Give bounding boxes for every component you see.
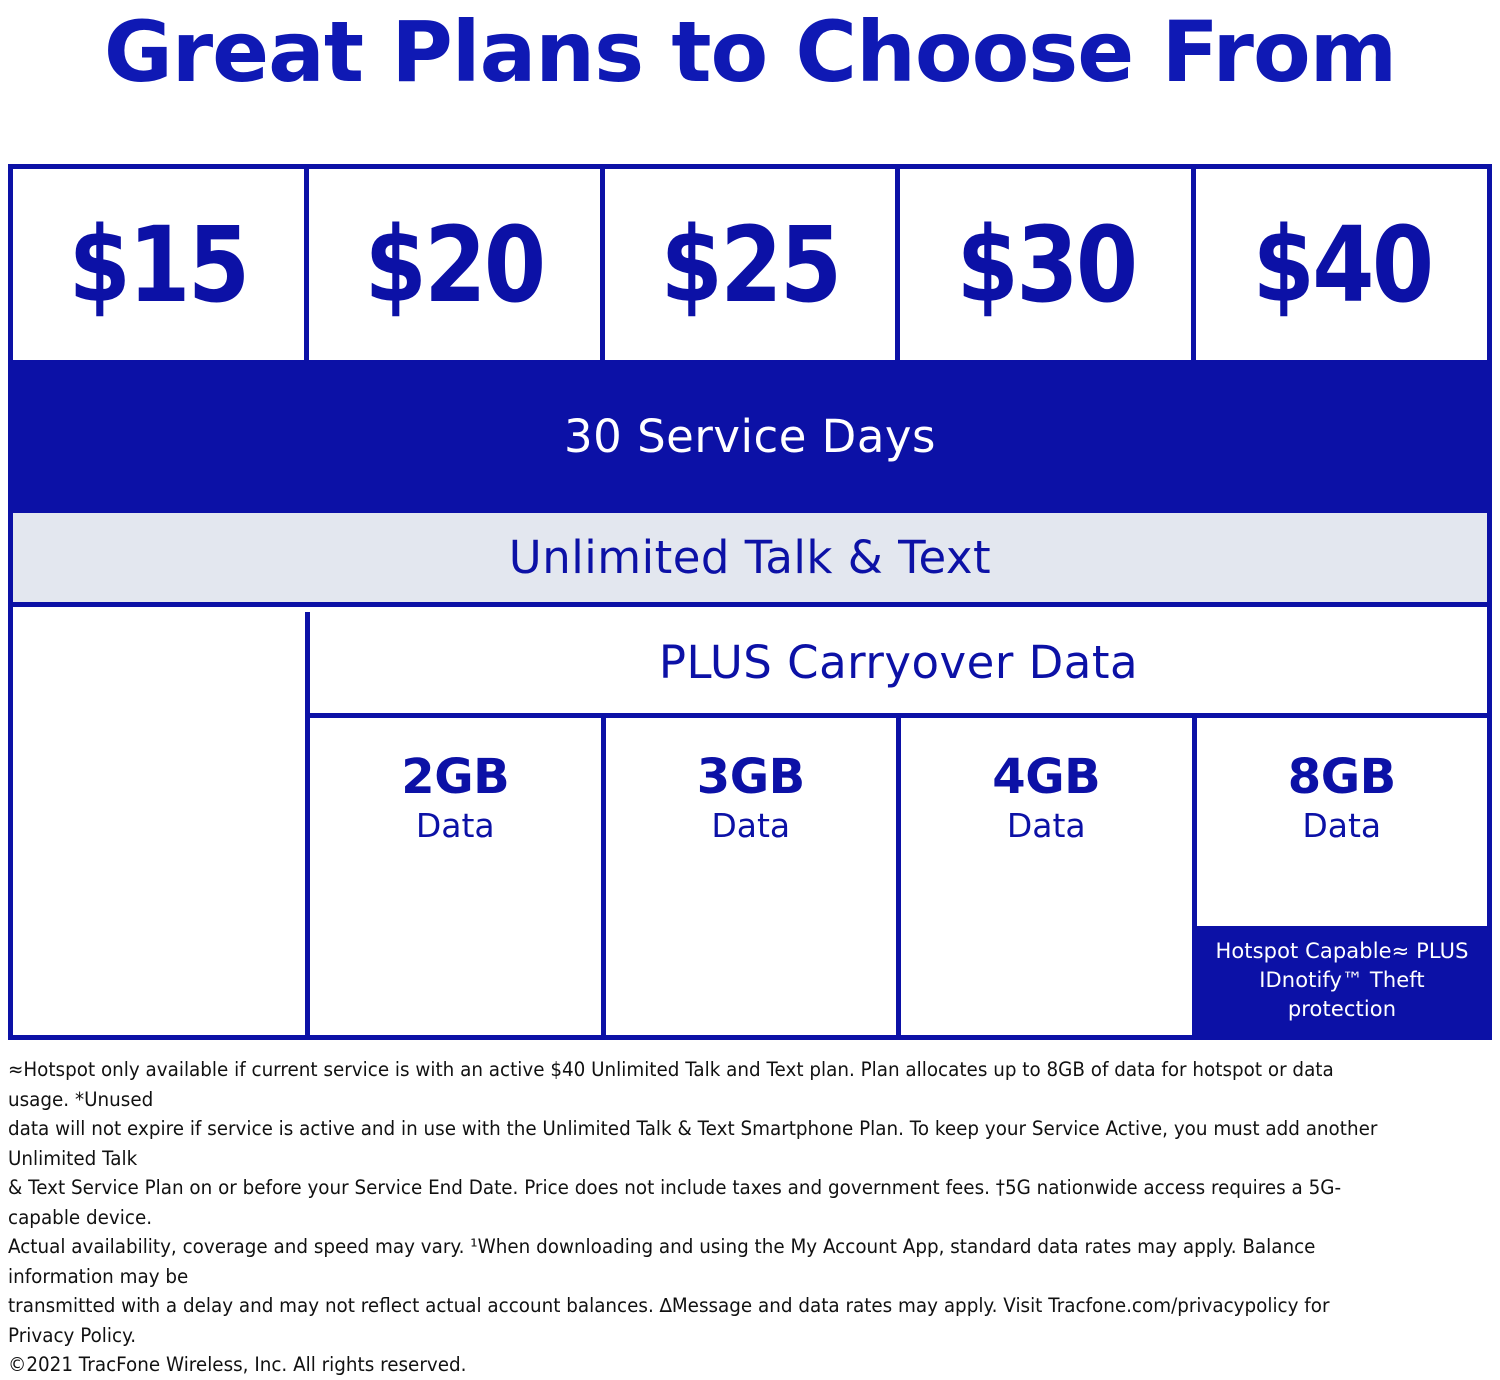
- data-cell-4gb[interactable]: 4GB Data: [901, 718, 1197, 1035]
- price-label-20: $20: [365, 213, 544, 317]
- hotspot-promo-line2: IDnotify™ Theft protection: [1259, 968, 1425, 1021]
- footnote-line-5: transmitted with a delay and may not ref…: [8, 1291, 1399, 1350]
- data-amount-8gb: 8GB: [1197, 750, 1488, 804]
- hotspot-promo-line1: Hotspot Capable≈ PLUS: [1215, 939, 1468, 963]
- footnote-line-2: data will not expire if service is activ…: [8, 1114, 1399, 1173]
- data-label-8gb: Data: [1197, 804, 1488, 848]
- unlimited-talk-text-label: Unlimited Talk & Text: [509, 533, 991, 583]
- service-days-label: 30 Service Days: [564, 412, 936, 462]
- carryover-data-label: PLUS Carryover Data: [659, 638, 1138, 688]
- price-label-40: $40: [1252, 213, 1431, 317]
- footnote-legal-text: ≈Hotspot only available if current servi…: [8, 1055, 1399, 1380]
- hotspot-promo-block: Hotspot Capable≈ PLUSIDnotify™ Theft pro…: [1197, 926, 1487, 1035]
- price-label-25: $25: [661, 213, 840, 317]
- price-cell-30[interactable]: $30: [900, 169, 1196, 360]
- price-cell-25[interactable]: $25: [605, 169, 901, 360]
- data-cell-2gb[interactable]: 2GB Data: [310, 718, 606, 1035]
- unlimited-talk-text-row: Unlimited Talk & Text: [13, 513, 1487, 607]
- price-cell-40[interactable]: $40: [1196, 169, 1487, 360]
- footnote-line-6: ©2021 TracFone Wireless, Inc. All rights…: [8, 1350, 1399, 1380]
- data-amount-2gb: 2GB: [310, 750, 601, 804]
- data-amount-3gb: 3GB: [606, 750, 897, 804]
- pricing-plans-page: Great Plans to Choose From $15 $20 $25 $…: [0, 0, 1500, 1241]
- data-cell-3gb[interactable]: 3GB Data: [606, 718, 902, 1035]
- hotspot-promo-text: Hotspot Capable≈ PLUSIDnotify™ Theft pro…: [1203, 937, 1481, 1024]
- footnote-line-1: ≈Hotspot only available if current servi…: [8, 1055, 1399, 1114]
- data-label-3gb: Data: [606, 804, 897, 848]
- page-title: Great Plans to Choose From: [0, 2, 1500, 102]
- data-label-4gb: Data: [901, 804, 1192, 848]
- price-label-15: $15: [69, 213, 248, 317]
- data-amount-4gb: 4GB: [901, 750, 1192, 804]
- price-header-row: $15 $20 $25 $30 $40: [13, 169, 1487, 360]
- price-cell-15[interactable]: $15: [13, 169, 309, 360]
- price-cell-20[interactable]: $20: [309, 169, 605, 360]
- price-label-30: $30: [956, 213, 1135, 317]
- data-label-2gb: Data: [310, 804, 601, 848]
- footnote-line-3: & Text Service Plan on or before your Se…: [8, 1173, 1399, 1232]
- service-days-row: 30 Service Days: [8, 360, 1492, 513]
- plans-table: $15 $20 $25 $30 $40 30 Service Days Unli…: [8, 164, 1492, 1040]
- carryover-data-row: PLUS Carryover Data: [305, 612, 1487, 718]
